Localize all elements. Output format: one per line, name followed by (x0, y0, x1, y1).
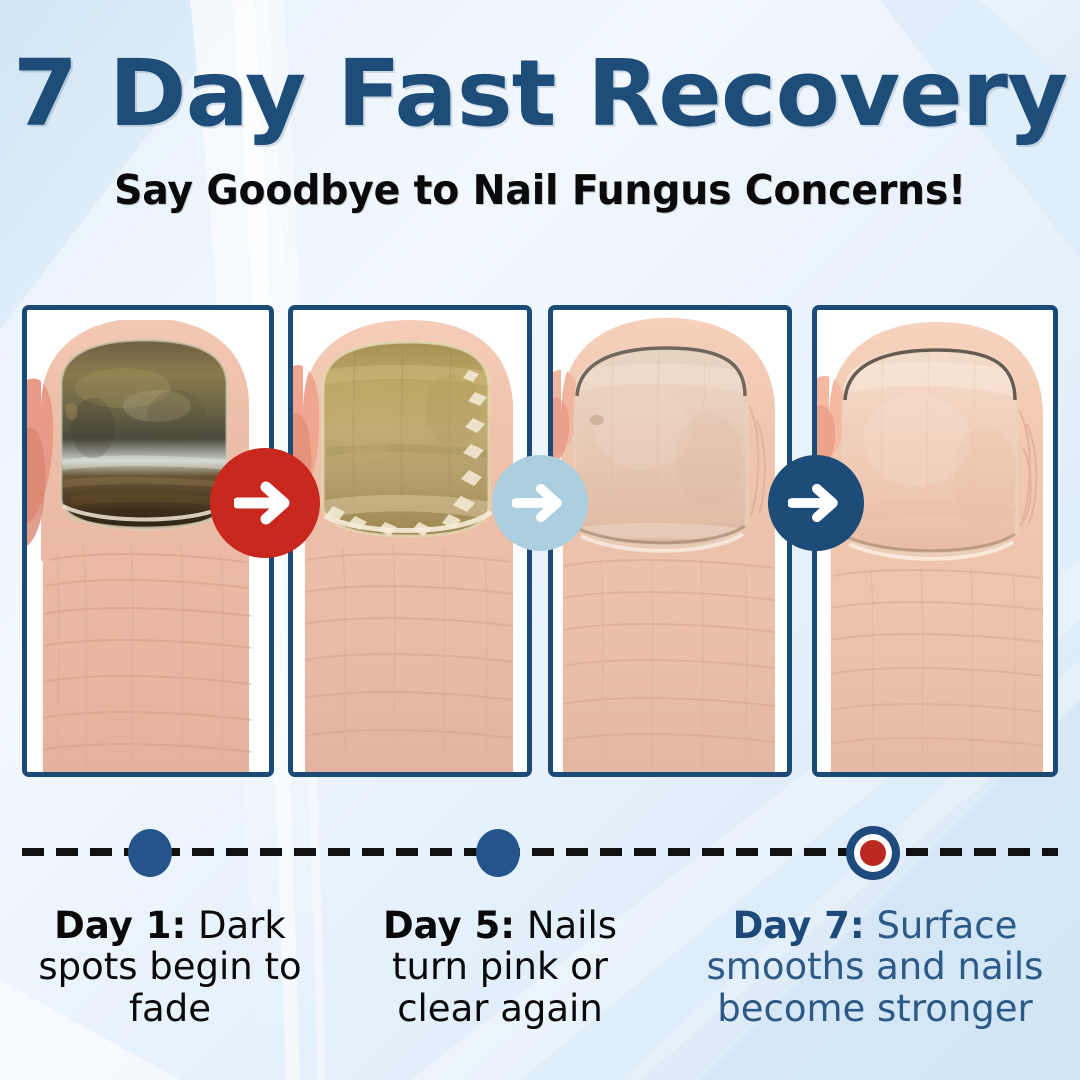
arrow-stage-1-to-2 (210, 448, 320, 558)
marker-white-ring (854, 834, 892, 872)
timeline-dashed-line (22, 848, 1058, 856)
recovery-timeline (0, 838, 1080, 872)
stage-4-healthy-nail (817, 310, 1053, 772)
caption-day-5-label: Day 5: (383, 904, 515, 947)
progress-photo-stage-3 (548, 305, 792, 777)
caption-day-7-label: Day 7: (733, 904, 865, 947)
marker-red-center (860, 840, 886, 866)
arrow-right-icon (234, 476, 296, 530)
timeline-marker-day-7 (846, 826, 900, 880)
caption-day-7: Day 7: Surface smooths and nails become … (690, 905, 1060, 1029)
timeline-marker-day-1 (128, 829, 172, 877)
arrow-stage-3-to-4 (768, 455, 864, 551)
progress-photo-stage-4 (812, 305, 1058, 777)
arrow-stage-2-to-3 (492, 455, 588, 551)
header: 7 Day Fast Recovery Say Goodbye to Nail … (0, 0, 1080, 214)
caption-day-1: Day 1: Dark spots begin to fade (20, 905, 320, 1029)
arrow-right-icon (788, 479, 844, 527)
arrow-right-icon (512, 479, 568, 527)
progress-photo-stage-2 (288, 305, 532, 777)
page-title: 7 Day Fast Recovery (0, 48, 1080, 140)
caption-day-5: Day 5: Nails turn pink or clear again (350, 905, 650, 1029)
stage-3-clearing-nail (553, 310, 787, 772)
caption-day-1-label: Day 1: (54, 904, 186, 947)
page-subtitle: Say Goodbye to Nail Fungus Concerns! (22, 166, 1059, 214)
timeline-marker-day-5 (476, 829, 520, 877)
stage-2-yellowing-nail (293, 310, 527, 772)
